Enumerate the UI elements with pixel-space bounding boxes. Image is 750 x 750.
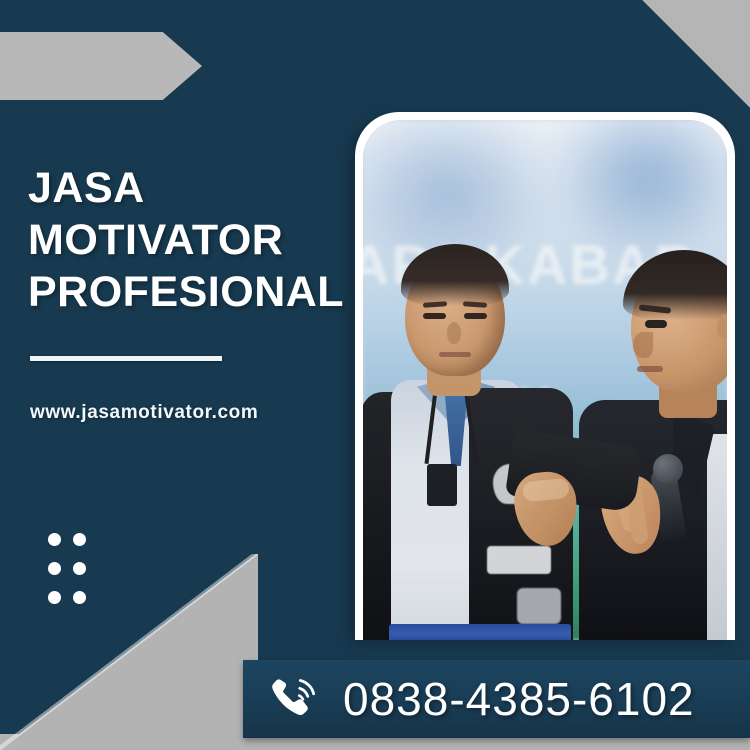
dot <box>48 591 61 604</box>
person-left-eye-right <box>464 313 487 319</box>
person-right-eye <box>645 320 667 328</box>
photo-image: APA KABAR AH, BAIK <box>363 120 727 640</box>
person-right-nose <box>633 332 653 358</box>
person-right-mouth <box>637 366 663 372</box>
photo-scene: APA KABAR AH, BAIK <box>363 120 727 640</box>
poster-root: JASA MOTIVATOR PROFESIONAL www.jasamotiv… <box>0 0 750 750</box>
person-left-hair <box>401 244 509 306</box>
phone-ringing-icon <box>269 673 321 725</box>
dot <box>73 562 86 575</box>
photo-card: APA KABAR AH, BAIK <box>355 112 735 640</box>
website-url[interactable]: www.jasamotivator.com <box>30 402 258 424</box>
bottom-left-triangle-edge-highlight <box>0 554 258 750</box>
person-right-shirt <box>707 434 727 640</box>
headline-line-2: MOTIVATOR <box>28 214 358 266</box>
person-left-id-badge <box>427 464 457 506</box>
contact-phone-bar[interactable]: 0838-4385-6102 <box>243 660 750 738</box>
page-title: JASA MOTIVATOR PROFESIONAL <box>28 162 358 318</box>
top-right-corner-triangle <box>642 0 750 108</box>
dot <box>73 591 86 604</box>
headline-line-3: PROFESIONAL <box>28 266 358 318</box>
phone-number-text: 0838-4385-6102 <box>343 676 695 722</box>
person-left-mouth <box>439 352 471 357</box>
person-left-eye-left <box>423 313 446 319</box>
decorative-dot-grid <box>48 533 86 604</box>
dot <box>48 562 61 575</box>
person-left-nose <box>447 322 461 344</box>
title-divider-rule <box>30 356 222 361</box>
headline-line-1: JASA <box>28 162 358 214</box>
chevron-banner <box>0 32 202 100</box>
jacket-logo-chest <box>487 546 551 574</box>
dot <box>73 533 86 546</box>
dot <box>48 533 61 546</box>
person-right-hair <box>623 250 727 320</box>
person-left-blue-hem <box>389 624 571 640</box>
